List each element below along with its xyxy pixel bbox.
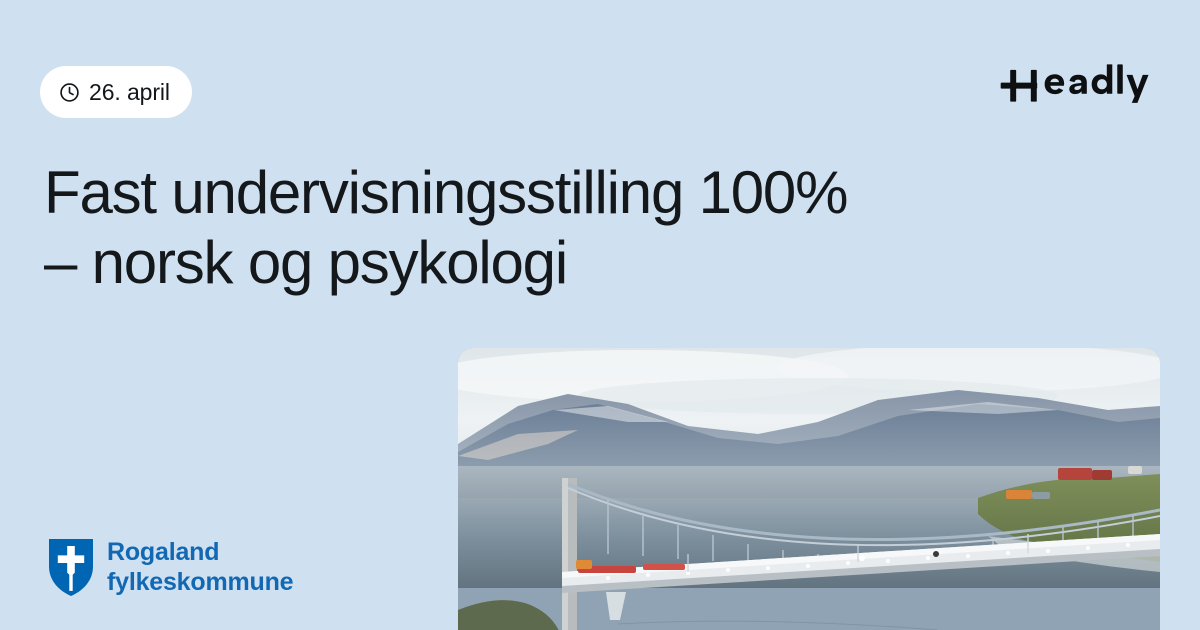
headline-line-1: Fast undervisningsstilling 100% <box>44 158 1104 228</box>
headline-line-2: – norsk og psykologi <box>44 228 1104 298</box>
date-badge: 26. april <box>40 66 192 118</box>
date-label: 26. april <box>89 81 170 104</box>
social-share-card: 26. april Fast undervisningsstilling 100… <box>0 0 1200 630</box>
shield-icon <box>48 538 94 597</box>
clock-icon <box>59 82 80 103</box>
article-image <box>458 348 1160 630</box>
page-title: Fast undervisningsstilling 100% – norsk … <box>44 158 1104 298</box>
county-logo-line-2: fylkeskommune <box>107 568 293 598</box>
county-logo-text: Rogaland fylkeskommune <box>107 538 293 597</box>
rogaland-fylkeskommune-logo: Rogaland fylkeskommune <box>48 538 293 597</box>
headly-logo[interactable] <box>1000 62 1160 108</box>
county-logo-line-1: Rogaland <box>107 538 293 568</box>
